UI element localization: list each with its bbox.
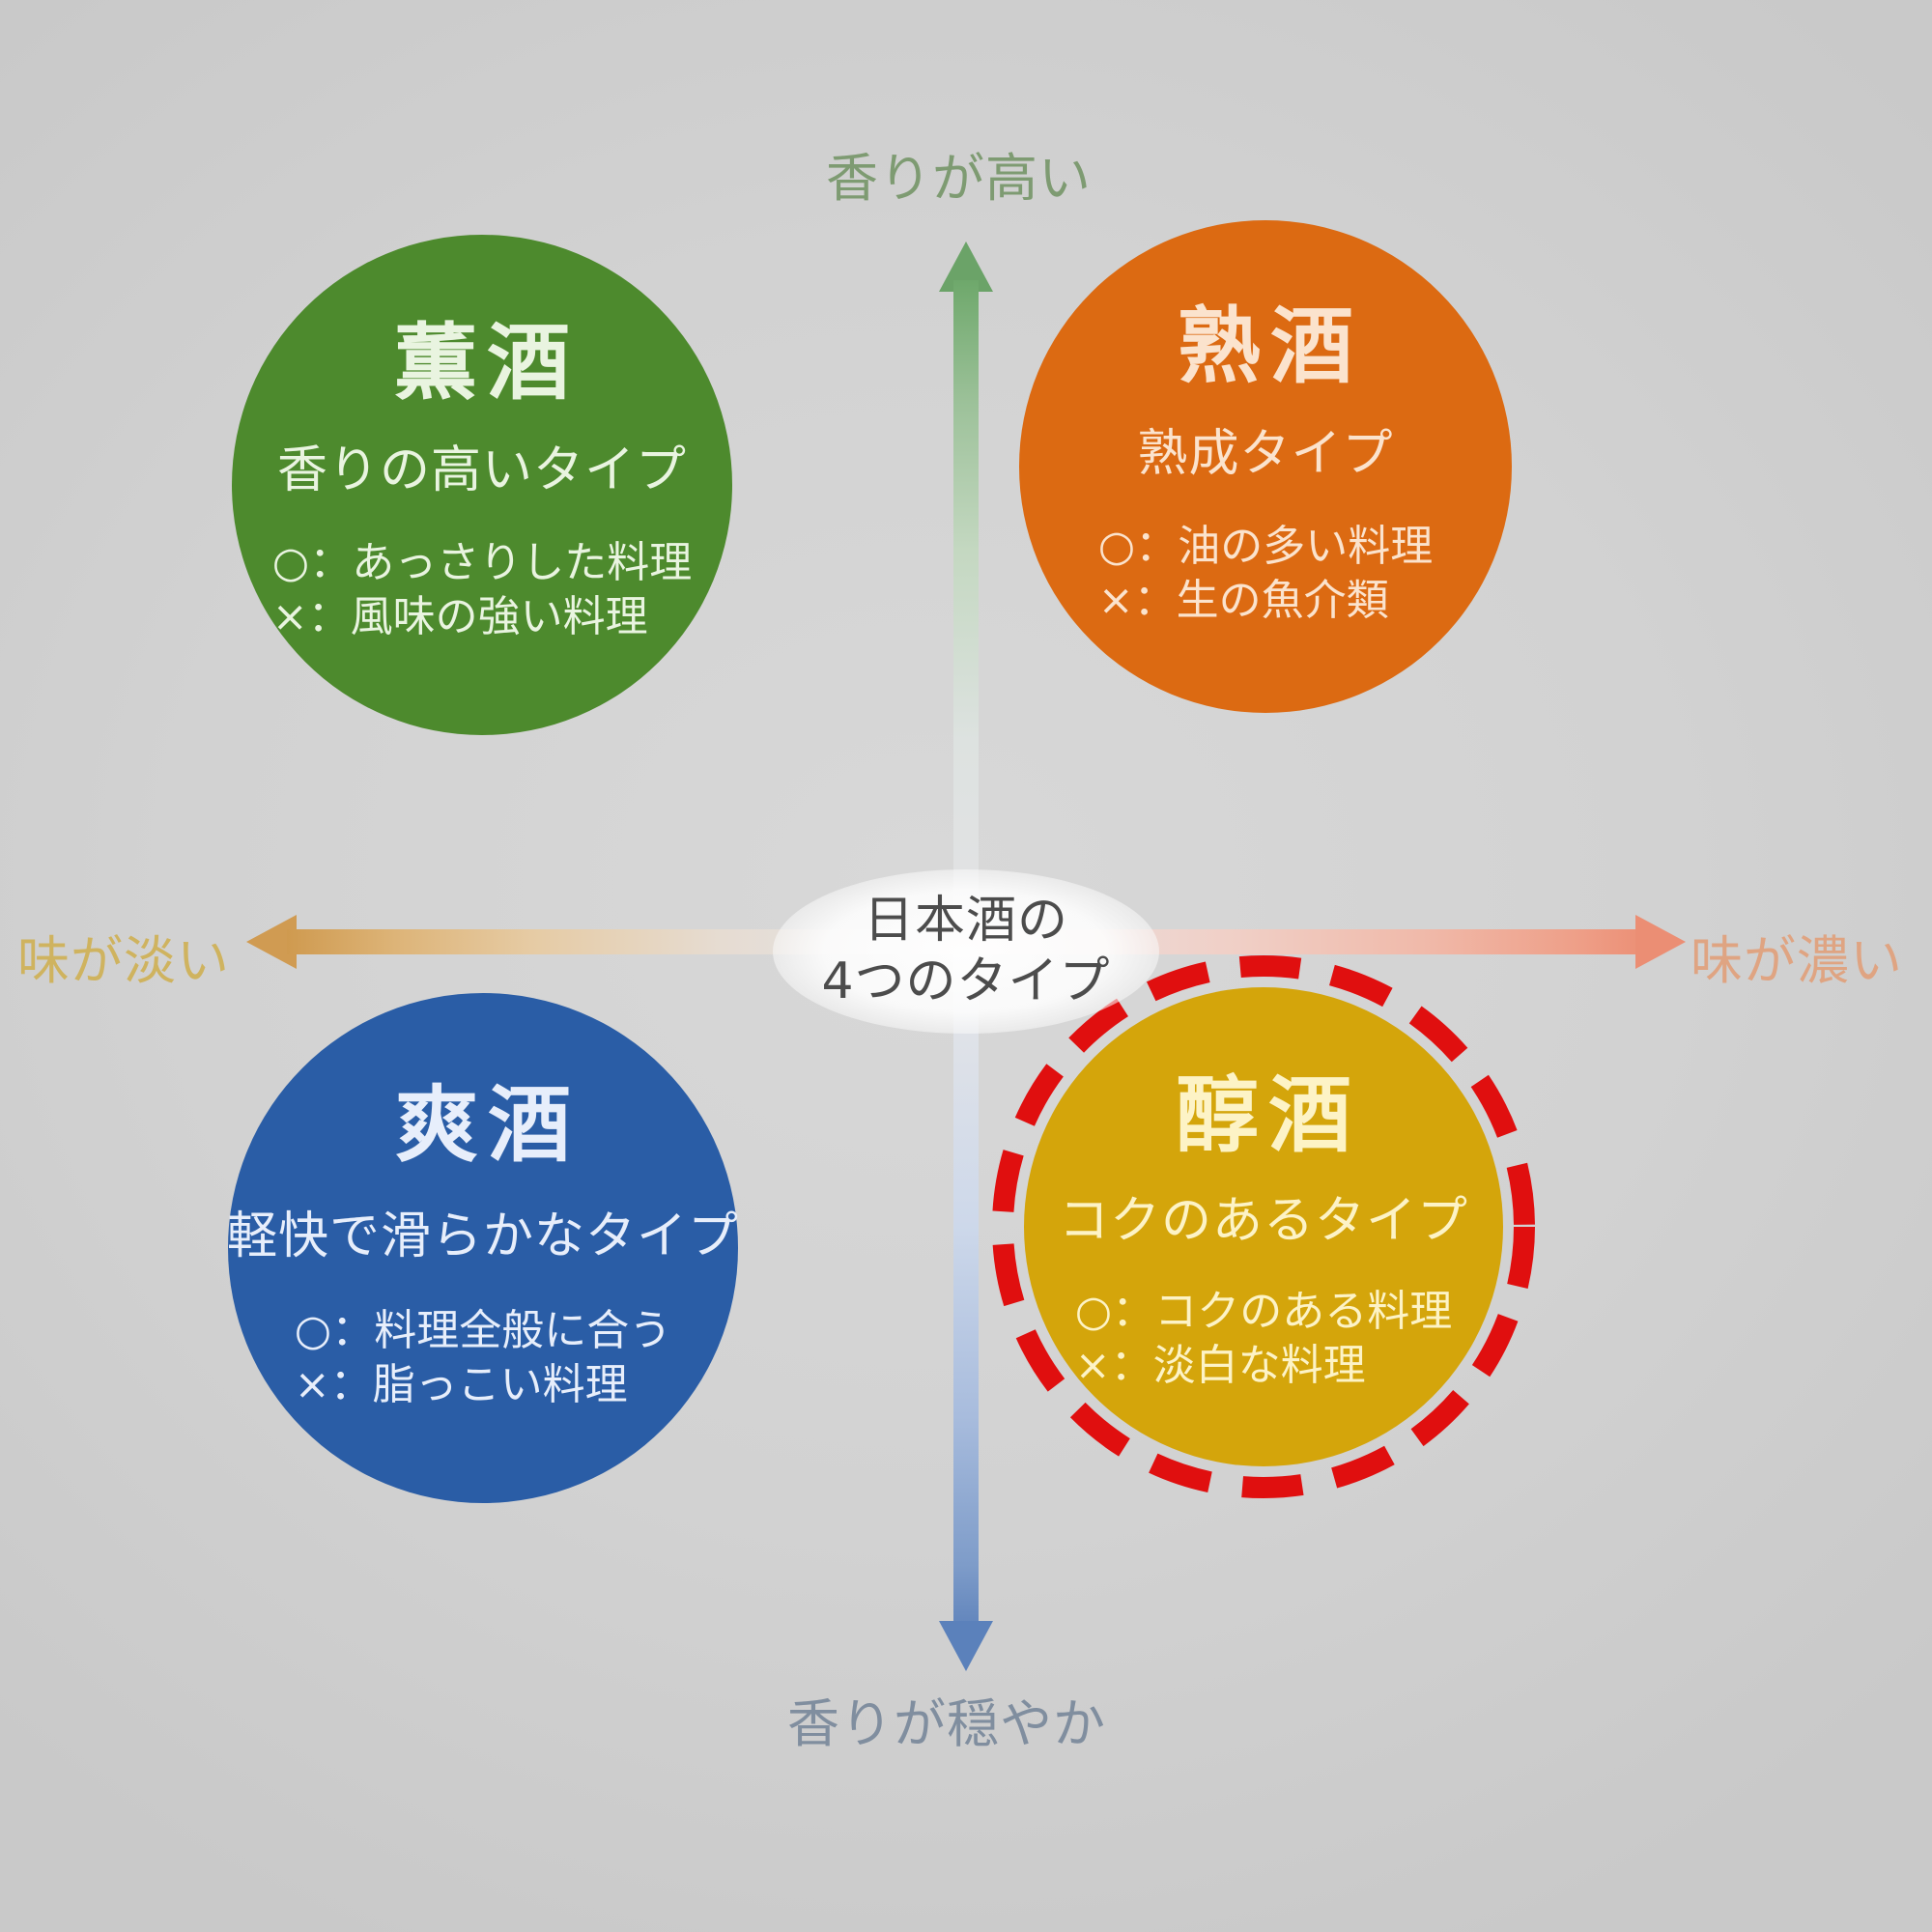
quadrant-title-jukushu: 熟酒 (1168, 305, 1363, 388)
center-label-line1: 日本酒の (864, 891, 1068, 952)
center-label-line2: 4つのタイプ (821, 952, 1110, 1012)
quadrant-notes-junshu: ○：コクのある料理 ×：淡白な料理 (1075, 1285, 1452, 1394)
axis-label-right: 味が濃い (1690, 918, 1903, 994)
sake-type-matrix-diagram: 香りが高い 香りが穏やか 味が淡い 味が濃い 薫酒 香りの高いタイプ ○：あっさ… (0, 0, 1932, 1932)
axis-label-top: 香りが高い (826, 135, 1092, 212)
center-label-badge: 日本酒の 4つのタイプ (773, 869, 1159, 1034)
quadrant-subtitle-junshu: コクのあるタイプ (1059, 1196, 1468, 1246)
quadrant-bubble-junshu[interactable]: 醇酒 コクのあるタイプ ○：コクのある料理 ×：淡白な料理 (1024, 987, 1503, 1466)
quadrant-title-soshu: 爽酒 (385, 1084, 581, 1167)
quadrant-bad-junshu: ×：淡白な料理 (1075, 1339, 1452, 1393)
quadrant-title-kunshu: 薫酒 (384, 322, 580, 405)
quadrant-bad-jukushu: ×：生の魚介類 (1098, 574, 1433, 628)
axis-label-left: 味が淡い (17, 918, 230, 994)
quadrant-subtitle-jukushu: 熟成タイプ (1137, 429, 1393, 479)
axis-arrow-right-icon (1635, 915, 1686, 969)
quadrant-notes-soshu: ○：料理全般に合う ×：脂っこい料理 (295, 1304, 671, 1413)
quadrant-subtitle-kunshu: 香りの高いタイプ (277, 445, 687, 496)
quadrant-good-jukushu: ○：油の多い料理 (1098, 520, 1433, 574)
quadrant-bubble-soshu[interactable]: 爽酒 軽快で滑らかなタイプ ○：料理全般に合う ×：脂っこい料理 (228, 993, 738, 1503)
axis-label-bottom: 香りが穏やか (787, 1681, 1106, 1757)
quadrant-title-junshu: 醇酒 (1166, 1074, 1361, 1157)
quadrant-subtitle-soshu: 軽快で滑らかなタイプ (227, 1211, 739, 1262)
quadrant-notes-jukushu: ○：油の多い料理 ×：生の魚介類 (1098, 520, 1433, 629)
quadrant-bubble-kunshu[interactable]: 薫酒 香りの高いタイプ ○：あっさりした料理 ×：風味の強い料理 (232, 235, 732, 735)
quadrant-bad-soshu: ×：脂っこい料理 (295, 1358, 671, 1412)
quadrant-bubble-jukushu[interactable]: 熟酒 熟成タイプ ○：油の多い料理 ×：生の魚介類 (1019, 220, 1512, 713)
quadrant-good-junshu: ○：コクのある料理 (1075, 1285, 1452, 1339)
quadrant-notes-kunshu: ○：あっさりした料理 ×：風味の強い料理 (272, 536, 692, 645)
quadrant-good-kunshu: ○：あっさりした料理 (272, 536, 692, 590)
quadrant-good-soshu: ○：料理全般に合う (295, 1304, 671, 1358)
axis-arrow-down-icon (939, 1621, 993, 1671)
quadrant-bad-kunshu: ×：風味の強い料理 (272, 590, 692, 644)
